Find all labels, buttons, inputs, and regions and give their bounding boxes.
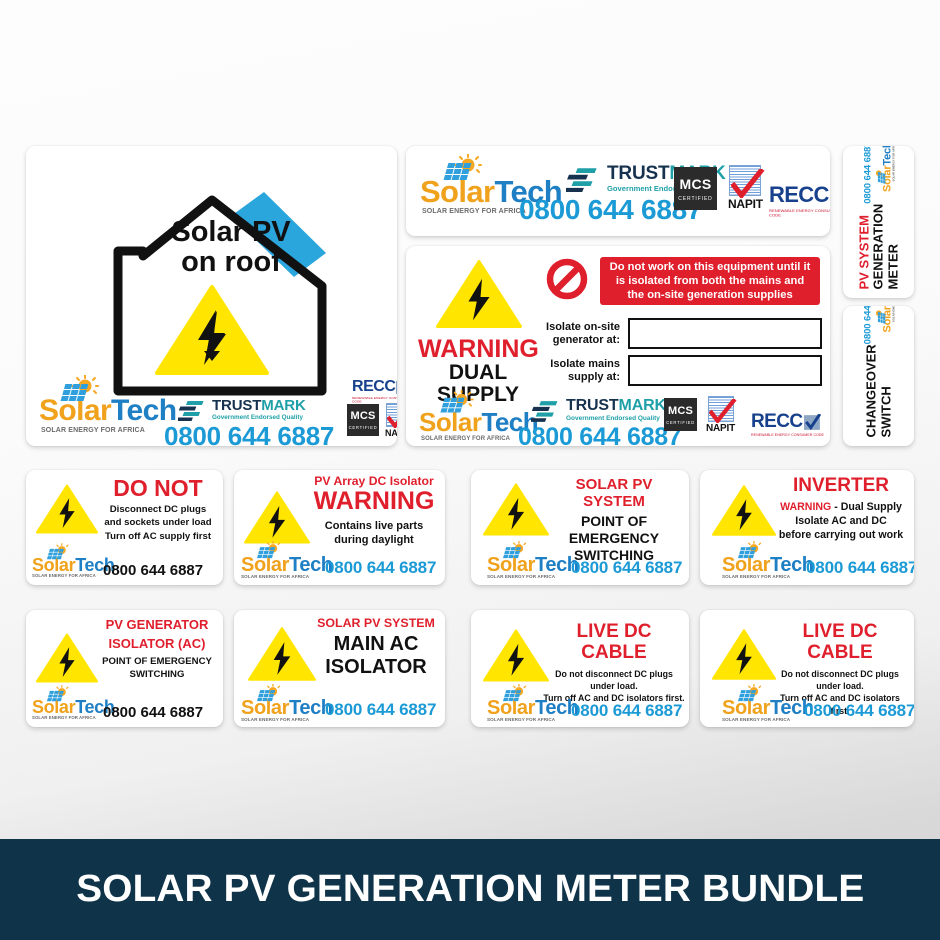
electric-hazard-triangle-icon [483, 482, 549, 537]
solartech-logo: SolarTech SOLAR ENERGY FOR AFRICA [241, 555, 333, 580]
recc-logo: RECC RENEWABLE ENERGY CONSUMER CODE [769, 182, 830, 218]
prohibition-icon [546, 258, 588, 300]
inverter-heading: INVERTER [772, 476, 910, 497]
product-title-banner: SOLAR PV GENERATION METER BUNDLE [0, 839, 940, 940]
phone-number: 0800 644 6887 [325, 558, 436, 578]
main-ac-line1: MAIN AC [310, 633, 442, 657]
inverter-warning-line: WARNING - Dual Supply [772, 500, 910, 514]
electric-hazard-triangle-icon [248, 626, 316, 682]
solar-panel-sun-icon [46, 543, 74, 562]
solartech-logo: SolarTech SOLAR ENERGY FOR AFRICA [722, 698, 814, 723]
solartech-logo: SolarTech SOLAR ENERGY FOR AFRICA [39, 396, 176, 434]
label-point-of-emergency-switching[interactable]: SOLAR PV SYSTEM POINT OF EMERGENCY SWITC… [471, 470, 689, 585]
do-not-body-line: and sockets under load [96, 516, 220, 529]
label-do-not[interactable]: DO NOT Disconnect DC plugs and sockets u… [26, 470, 223, 585]
electric-hazard-triangle-icon [483, 628, 549, 683]
solar-panel-sun-icon [256, 541, 286, 561]
label-logo-strip[interactable]: SolarTech SOLAR ENERGY FOR AFRICA TRUSTM… [406, 146, 830, 236]
pv-generator-body-line: POINT OF EMERGENCY [94, 656, 220, 668]
trustmark-bars-icon [531, 400, 562, 422]
label-live-dc-cable-1[interactable]: LIVE DC CABLE Do not disconnect DC plugs… [471, 610, 689, 727]
solartech-logo: SolarTech SOLAR ENERGY FOR AFRICA [882, 146, 896, 204]
logo-tagline: SOLAR ENERGY FOR AFRICA [893, 306, 896, 322]
electric-hazard-triangle-icon [36, 632, 98, 684]
phone-number: 0800 644 6887 [164, 421, 334, 446]
generation-meter-line2: GENERATION METER [872, 204, 901, 290]
napit-tick-icon [731, 169, 765, 198]
phone-number: 0800 644 6887 [571, 701, 682, 721]
banner-title: SOLAR PV GENERATION METER BUNDLE [76, 868, 864, 911]
pv-generator-body-line: SWITCHING [94, 669, 220, 681]
do-not-body-line: Disconnect DC plugs [96, 503, 220, 516]
solar-panel-sun-icon [46, 685, 74, 704]
electric-hazard-triangle-icon [712, 628, 776, 681]
phone-number: 0800 644 6887 [103, 562, 203, 579]
napit-logo: NAPIT [706, 396, 735, 434]
inverter-body-line: Isolate AC and DC [772, 514, 910, 528]
electric-hazard-triangle-icon [436, 258, 522, 330]
emergency-eyebrow: SOLAR PV SYSTEM [543, 477, 685, 510]
recc-tick-icon [804, 414, 821, 431]
napit-logo: NAPIT [728, 165, 763, 211]
electric-hazard-triangle-icon [36, 483, 98, 535]
inverter-warning-rest: - Dual Supply [831, 501, 902, 513]
logo-tagline: SOLAR ENERGY FOR AFRICA [421, 436, 510, 442]
solar-panel-sun-icon [737, 541, 767, 561]
dual-supply-notice-box: Do not work on this equipment until it i… [600, 257, 820, 305]
mcs-logo: MCS CERTIFIED [664, 398, 697, 431]
changeover-switch-line2: SWITCH [879, 344, 894, 437]
live-dc-cable-body-line: Do not disconnect DC plugs under load. [543, 668, 685, 693]
roof-label-text: Solar PV on roof [141, 218, 321, 277]
solar-panel-sun-icon [256, 684, 286, 704]
logo-tagline: SOLAR ENERGY FOR AFRICA [422, 208, 526, 215]
electric-hazard-triangle-icon [712, 484, 776, 537]
phone-number: 0800 644 6887 [103, 704, 203, 721]
solartech-logo: SolarTech SOLAR ENERGY FOR AFRICA [882, 306, 896, 344]
solar-panel-sun-icon [502, 684, 532, 704]
electric-hazard-triangle-icon [244, 490, 310, 545]
solar-panel-sun-icon [873, 164, 887, 184]
recc-logo: RECC RENEWABLE ENERGY CONSUMER CODE [751, 411, 824, 437]
do-not-heading: DO NOT [96, 476, 220, 500]
trustmark-logo: TRUSTMARK Government Endorsed Quality [531, 398, 666, 424]
recc-logo: RECC RENEWABLE ENERGY CONSUMER CODE [352, 378, 397, 404]
do-not-body-line: Turn off AC supply first [96, 530, 220, 543]
generation-meter-rotated-content: PV SYSTEM GENERATION METER 0800 644 6887 [844, 147, 915, 299]
inverter-body-line: before carrying out work [772, 528, 910, 542]
solartech-logo: SolarTech SOLAR ENERGY FOR AFRICA [241, 698, 333, 723]
isolate-generator-field: Isolate on-site generator at: [544, 318, 824, 349]
live-dc-cable-heading: LIVE DC CABLE [770, 622, 910, 664]
solartech-logo: SolarTech SOLAR ENERGY FOR AFRICA [487, 698, 579, 723]
label-pv-generator-isolator-ac[interactable]: PV GENERATOR ISOLATOR (AC) POINT OF EMER… [26, 610, 223, 727]
electric-hazard-triangle-icon [155, 283, 269, 377]
logo-tagline: SOLAR ENERGY FOR AFRICA [41, 427, 145, 434]
trustmark-bars-icon [566, 167, 602, 192]
main-ac-eyebrow: SOLAR PV SYSTEM [310, 616, 442, 631]
mcs-logo: MCS CERTIFIED [347, 404, 379, 436]
solar-panel-sun-icon [442, 154, 488, 184]
isolate-mains-input[interactable] [628, 355, 822, 386]
isolate-mains-field: Isolate mains supply at: [544, 355, 824, 386]
pv-array-heading: WARNING [306, 488, 442, 514]
label-live-dc-cable-2[interactable]: LIVE DC CABLE Do not disconnect DC plugs… [700, 610, 914, 727]
solar-panel-sun-icon [502, 541, 532, 561]
pv-array-eyebrow: PV Array DC Isolator [306, 475, 442, 488]
label-solar-pv-on-roof[interactable]: Solar PV on roof [26, 146, 397, 446]
pv-generator-line2: ISOLATOR (AC) [94, 635, 220, 653]
phone-number: 0800 644 6887 [862, 306, 873, 344]
main-ac-line2: ISOLATOR [310, 656, 442, 680]
changeover-switch-line1: CHANGEOVER [864, 344, 879, 437]
generation-meter-line1: PV SYSTEM [857, 204, 872, 290]
pv-array-body-line: during daylight [306, 533, 442, 548]
label-warning-dual-supply[interactable]: WARNING DUAL SUPPLY Do not work on this … [406, 246, 830, 446]
live-dc-cable-heading: LIVE DC CABLE [543, 622, 685, 664]
trustmark-bars-icon [178, 400, 208, 421]
label-main-ac-isolator[interactable]: SOLAR PV SYSTEM MAIN AC ISOLATOR SolarTe… [234, 610, 445, 727]
logo-tagline: SOLAR ENERGY FOR AFRICA [893, 146, 896, 182]
phone-number: 0800 644 6887 [518, 423, 682, 446]
logo-word-tech: Tech [881, 146, 893, 166]
label-inverter[interactable]: INVERTER WARNING - Dual Supply Isolate A… [700, 470, 914, 585]
phone-number: 0800 644 6887 [325, 700, 436, 720]
isolate-generator-input[interactable] [628, 318, 822, 349]
changeover-switch-rotated-content: CHANGEOVER SWITCH 0800 644 6887 [844, 307, 915, 447]
napit-tick-icon [709, 399, 737, 423]
mcs-logo: MCS CERTIFIED [674, 167, 717, 210]
emergency-body-line: POINT OF EMERGENCY [543, 513, 685, 547]
inverter-warning-word: WARNING [780, 501, 831, 513]
label-pv-system-generation-meter[interactable]: PV SYSTEM GENERATION METER 0800 644 6887 [843, 146, 914, 298]
solar-panel-sun-icon [737, 684, 767, 704]
phone-number: 0800 644 6887 [806, 558, 914, 578]
live-dc-cable-body-line: Do not disconnect DC plugs under load. [770, 668, 910, 693]
solar-panel-sun-icon [439, 390, 479, 416]
recc-tick-icon [396, 380, 397, 395]
trustmark-logo: TRUSTMARK Government Endorsed Quality [178, 398, 306, 422]
label-changeover-switch[interactable]: CHANGEOVER SWITCH 0800 644 6887 [843, 306, 914, 446]
phone-number: 0800 644 6887 [804, 701, 914, 721]
solar-panel-sun-icon [873, 306, 887, 325]
solartech-logo: SolarTech SOLAR ENERGY FOR AFRICA [487, 555, 579, 580]
phone-number: 0800 644 6887 [571, 558, 682, 578]
solartech-logo: SolarTech SOLAR ENERGY FOR AFRICA [722, 555, 814, 580]
pv-generator-line1: PV GENERATOR [94, 616, 220, 635]
phone-number: 0800 644 6887 [862, 146, 873, 204]
solar-panel-sun-icon [59, 375, 105, 405]
label-pv-array-dc-isolator[interactable]: PV Array DC Isolator WARNING Contains li… [234, 470, 445, 585]
product-image-canvas: Solar PV on roof [0, 0, 940, 940]
napit-tick-icon [387, 406, 397, 428]
pv-array-body-line: Contains live parts [306, 519, 442, 534]
napit-logo: NAPIT [385, 403, 397, 438]
